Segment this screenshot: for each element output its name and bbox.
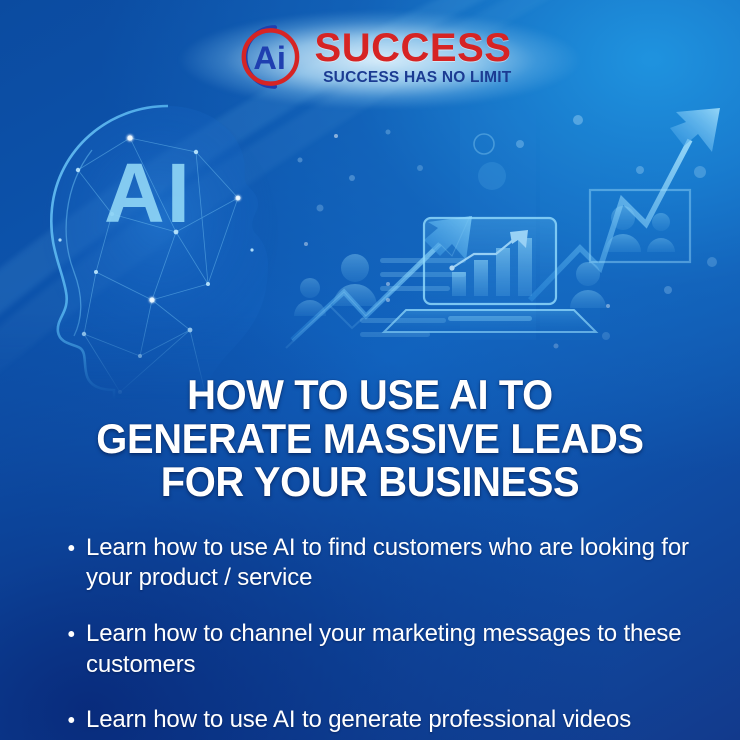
svg-text:Ai: Ai [253, 40, 286, 76]
ai-success-logo-icon: Ai [229, 20, 303, 94]
arrow-right [530, 108, 720, 300]
logo-tagline: SUCCESS HAS NO LIMIT [315, 70, 512, 86]
poster-canvas: AI [0, 0, 740, 740]
person-icon-right [570, 262, 606, 308]
list-item-text: Learn how to channel your marketing mess… [86, 620, 681, 678]
headline-line-3: FOR YOUR BUSINESS [41, 460, 698, 503]
headline-line-1: HOW TO USE AI TO [41, 373, 698, 416]
list-item: Learn how to channel your marketing mess… [86, 619, 694, 681]
arrow-left [292, 216, 472, 340]
brand-logo: Ai SUCCESS SUCCESS HAS NO LIMIT [0, 14, 740, 100]
bullet-dot-icon [68, 631, 74, 637]
growth-graphics [286, 108, 720, 349]
list-item-text: Learn how to use AI to find customers wh… [86, 534, 689, 592]
particle-dots [298, 115, 718, 349]
logo-title: SUCCESS [315, 28, 512, 68]
laptop-bars [449, 230, 532, 296]
bullet-dot-icon [68, 545, 74, 551]
list-item: Learn how to use AI to find customers wh… [86, 533, 694, 595]
benefits-list: Learn how to use AI to find customers wh… [0, 508, 740, 740]
page-title: HOW TO USE AI TO GENERATE MASSIVE LEADS … [0, 373, 740, 503]
laptop-chart-icon [384, 218, 596, 332]
people-card-icon [590, 190, 690, 262]
audience-list-icons [294, 254, 466, 337]
headline-line-2: GENERATE MASSIVE LEADS [41, 417, 698, 460]
list-item-text: Learn how to use AI to generate professi… [86, 706, 651, 740]
ai-head-label: AI [104, 146, 192, 240]
bullet-dot-icon [68, 717, 74, 723]
list-item: Learn how to use AI to generate professi… [86, 705, 694, 740]
